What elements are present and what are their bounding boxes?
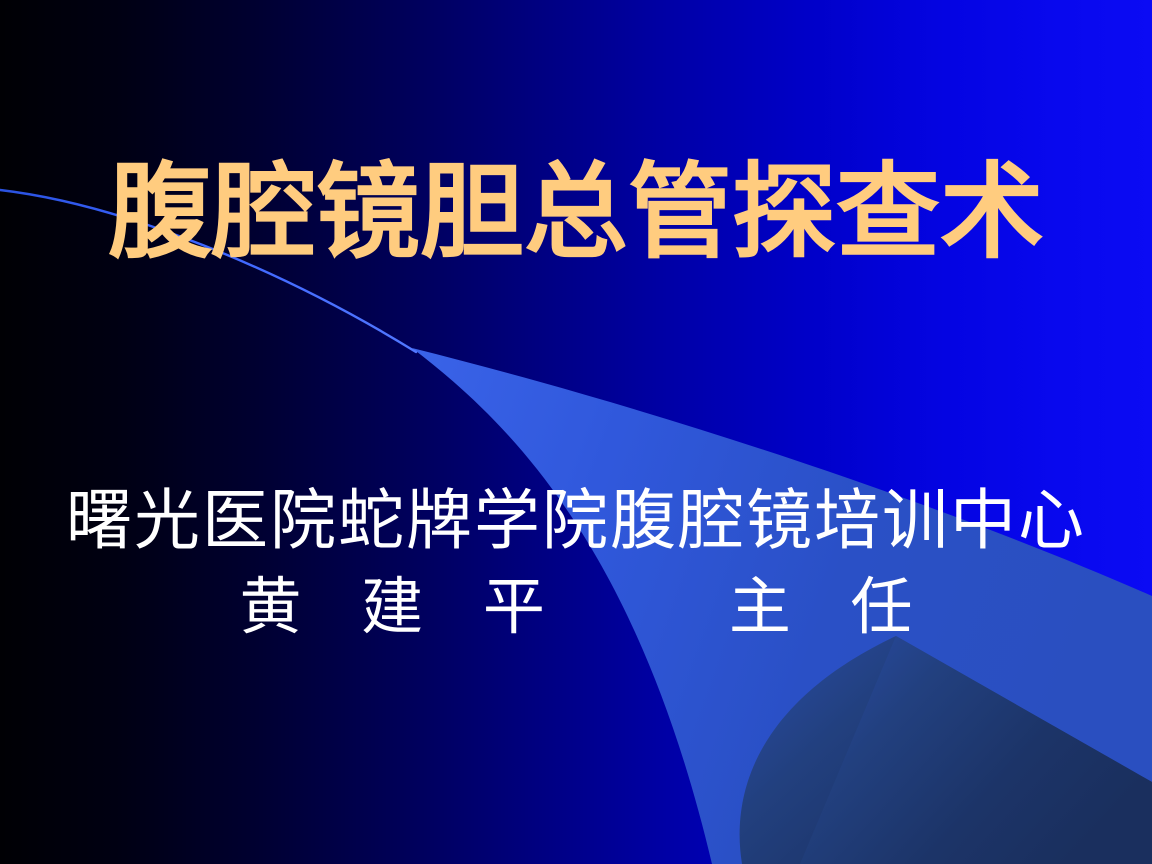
presentation-slide: 腹腔镜胆总管探查术 曙光医院蛇牌学院腹腔镜培训中心 黄 建 平 主 任 (0, 0, 1152, 864)
subtitle-organization: 曙光医院蛇牌学院腹腔镜培训中心 (0, 478, 1152, 564)
slide-subtitle-block: 曙光医院蛇牌学院腹腔镜培训中心 黄 建 平 主 任 (0, 478, 1152, 650)
slide-title: 腹腔镜胆总管探查术 (0, 152, 1152, 272)
subtitle-presenter: 黄 建 平 主 任 (0, 564, 1152, 650)
slide-content-layer: 腹腔镜胆总管探查术 曙光医院蛇牌学院腹腔镜培训中心 黄 建 平 主 任 (0, 0, 1152, 864)
